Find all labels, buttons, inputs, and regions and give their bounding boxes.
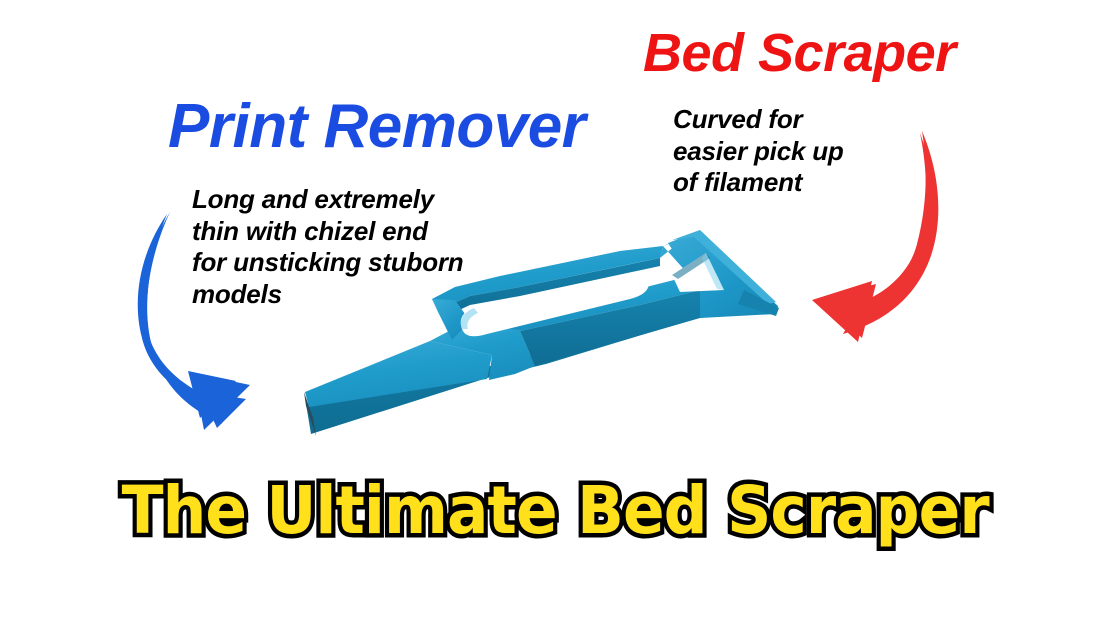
heading-bed-scraper: Bed Scraper [643,26,956,80]
callout-right-line-2: easier pick up [673,136,918,168]
callout-bed-scraper: Curved for easier pick up of filament [673,104,918,199]
heading-print-remover: Print Remover [168,96,585,158]
callout-left-line-2: thin with chizel end [192,216,522,248]
callout-right-line-3: of filament [673,167,918,199]
callout-right-line-1: Curved for [673,104,918,136]
callout-left-line-1: Long and extremely [192,184,522,216]
bottom-banner: The Ultimate Bed Scraper [0,478,1111,544]
banner-title: The Ultimate Bed Scraper [122,478,989,544]
callout-left-line-3: for unsticking stuborn [192,247,522,279]
callout-left-line-4: models [192,279,522,311]
poster-canvas: Print Remover Bed Scraper Long and extre… [0,0,1111,625]
callout-print-remover: Long and extremely thin with chizel end … [192,184,522,311]
